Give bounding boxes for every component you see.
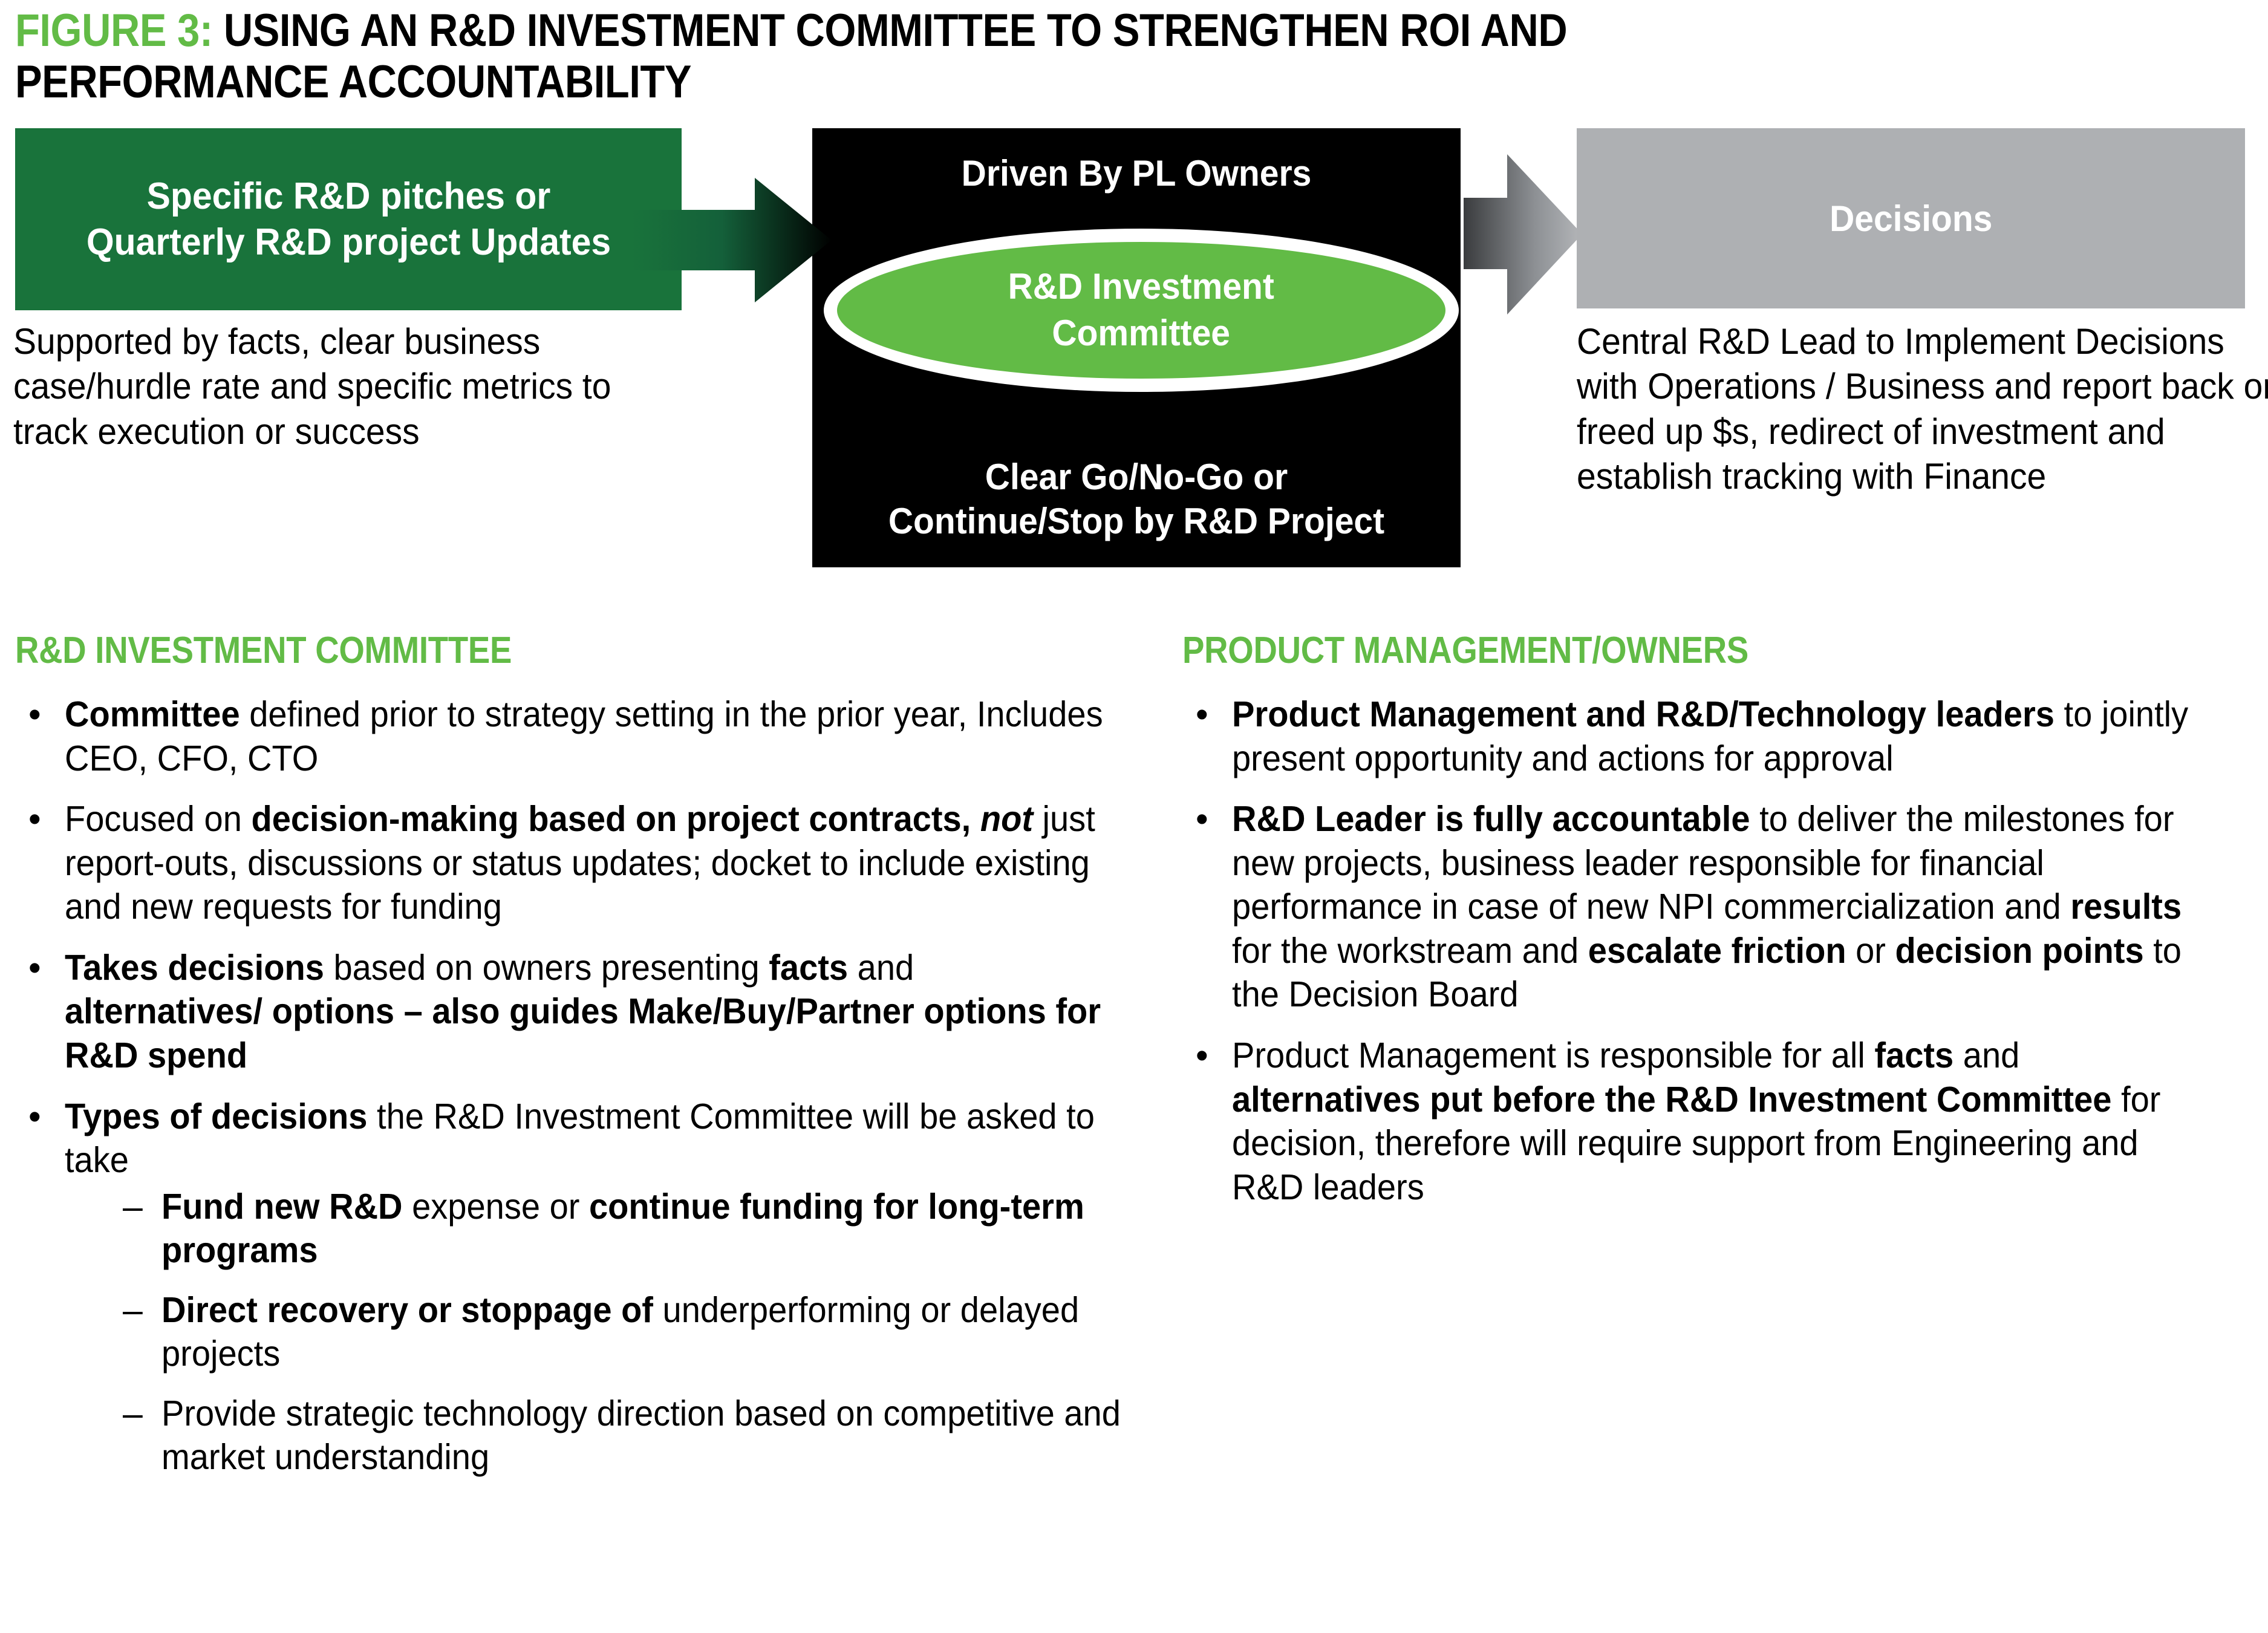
list-item: •Types of decisions the R&D Investment C… bbox=[15, 1095, 1176, 1480]
input-box: Specific R&D pitches or Quarterly R&D pr… bbox=[15, 128, 682, 310]
input-box-line-2: Quarterly R&D project Updates bbox=[86, 220, 610, 266]
list-item: •Product Management and R&D/Technology l… bbox=[1182, 693, 2265, 780]
sub-list: –Fund new R&D expense or continue fundin… bbox=[114, 1185, 1176, 1479]
sub-list-item-text: Provide strategic technology direction b… bbox=[161, 1392, 1126, 1479]
committee-ellipse: R&D Investment Committee bbox=[824, 229, 1459, 392]
list-item-text: Focused on decision-making based on proj… bbox=[65, 797, 1121, 929]
list-item-text: Takes decisions based on owners presenti… bbox=[65, 946, 1121, 1078]
sub-list-item: –Provide strategic technology direction … bbox=[114, 1392, 1176, 1479]
decisions-box-label: Decisions bbox=[1830, 198, 1992, 240]
input-box-line-1: Specific R&D pitches or bbox=[146, 174, 550, 220]
bullet-marker-icon: • bbox=[28, 693, 41, 737]
list-item: •R&D Leader is fully accountable to deli… bbox=[1182, 797, 2265, 1017]
ellipse-line-1: R&D Investment bbox=[1008, 264, 1274, 310]
committee-ellipse-label: R&D Investment Committee bbox=[1008, 264, 1274, 357]
list-item: •Product Management is responsible for a… bbox=[1182, 1034, 2265, 1209]
committee-box-top-label: Driven By PL Owners bbox=[829, 152, 1444, 194]
decisions-box: Decisions bbox=[1577, 128, 2245, 308]
committee-bottom-line-2: Continue/Stop by R&D Project bbox=[829, 499, 1444, 543]
sub-list-item: –Direct recovery or stoppage of underper… bbox=[114, 1288, 1176, 1376]
list-item: •Focused on decision-making based on pro… bbox=[15, 797, 1176, 929]
list-item-text: Product Management is responsible for al… bbox=[1232, 1034, 2214, 1209]
sub-list-item: –Fund new R&D expense or continue fundin… bbox=[114, 1185, 1176, 1273]
bullet-marker-icon: • bbox=[28, 1095, 41, 1139]
committee-box-bottom-label: Clear Go/No-Go or Continue/Stop by R&D P… bbox=[829, 455, 1444, 543]
dash-marker-icon: – bbox=[123, 1288, 143, 1332]
decisions-box-caption: Central R&D Lead to Implement Decisions … bbox=[1577, 319, 2268, 500]
bullet-marker-icon: • bbox=[1196, 693, 1208, 737]
input-box-caption: Supported by facts, clear business case/… bbox=[13, 319, 691, 454]
list-item: •Committee defined prior to strategy set… bbox=[15, 693, 1176, 780]
bullet-marker-icon: • bbox=[28, 946, 41, 990]
list-item-text: Committee defined prior to strategy sett… bbox=[65, 693, 1121, 780]
bullet-marker-icon: • bbox=[28, 797, 41, 841]
sub-list-item-text: Direct recovery or stoppage of underperf… bbox=[161, 1288, 1126, 1376]
sub-list-item-text: Fund new R&D expense or continue funding… bbox=[161, 1185, 1126, 1273]
ellipse-line-2: Committee bbox=[1008, 310, 1274, 357]
process-flow-diagram: Specific R&D pitches or Quarterly R&D pr… bbox=[0, 0, 2268, 605]
right-column-heading: PRODUCT MANAGEMENT/OWNERS bbox=[1182, 629, 1748, 672]
bullet-marker-icon: • bbox=[1196, 1034, 1208, 1078]
dash-marker-icon: – bbox=[123, 1185, 143, 1229]
list-item-text: R&D Leader is fully accountable to deliv… bbox=[1232, 797, 2214, 1017]
list-item-text: Product Management and R&D/Technology le… bbox=[1232, 693, 2214, 780]
dash-marker-icon: – bbox=[123, 1392, 143, 1436]
list-item-text: Types of decisions the R&D Investment Co… bbox=[65, 1095, 1121, 1182]
committee-bottom-line-1: Clear Go/No-Go or bbox=[829, 455, 1444, 499]
bullet-marker-icon: • bbox=[1196, 797, 1208, 841]
right-column-list: •Product Management and R&D/Technology l… bbox=[1182, 693, 2265, 1226]
left-column-list: •Committee defined prior to strategy set… bbox=[15, 693, 1176, 1496]
list-item: •Takes decisions based on owners present… bbox=[15, 946, 1176, 1078]
left-column-heading: R&D INVESTMENT COMMITTEE bbox=[15, 629, 512, 672]
